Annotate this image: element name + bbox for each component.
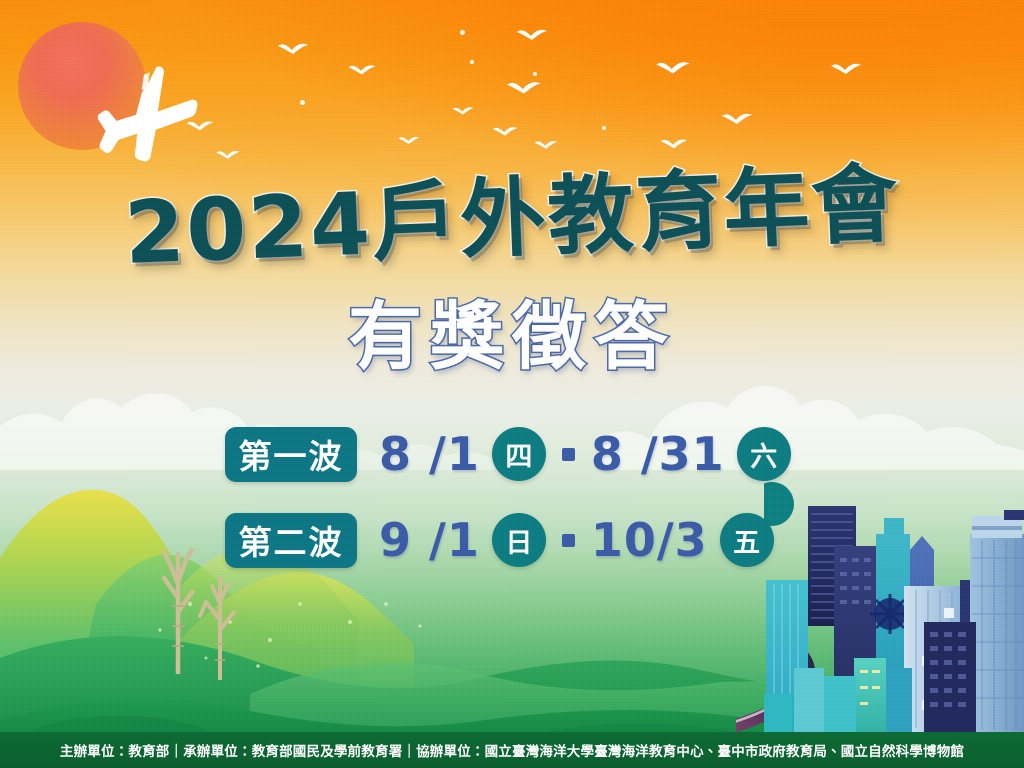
wave-row: 第一波 8 /1 四 8 /31 六 xyxy=(225,424,865,484)
wave-start-dow-badge: 日 xyxy=(492,513,546,567)
wave-end-dow-badge: 六 xyxy=(737,427,791,481)
page-subtitle: 有獎徵答 xyxy=(348,300,676,374)
wave-start-date: 9 /1 xyxy=(379,517,480,563)
wave-end-date: 8 /31 xyxy=(591,431,725,477)
date-range-separator xyxy=(562,534,575,547)
wave-end-date: 10/3 xyxy=(591,517,708,563)
wave-badge-second: 第二波 xyxy=(225,513,357,568)
wave-end-dow-badge: 五 xyxy=(720,513,774,567)
poster-canvas: 2024戶外教育年會 有獎徵答 第一波 8 /1 四 8 /31 六 第二波 9… xyxy=(0,0,1024,768)
sponsor-footer-bar: 主辦單位：教育部｜承辦單位：教育部國民及學前教育署｜協辦單位：國立臺灣海洋大學臺… xyxy=(0,732,1024,768)
poster-subtitle-container: 有獎徵答 xyxy=(0,300,1024,374)
airplane-icon xyxy=(83,52,224,175)
wave-badge-first: 第一波 xyxy=(225,427,357,482)
sponsor-footer-text: 主辦單位：教育部｜承辦單位：教育部國民及學前教育署｜協辦單位：國立臺灣海洋大學臺… xyxy=(60,740,964,760)
wave-row: 第二波 9 /1 日 10/3 五 xyxy=(225,510,865,570)
wave-start-date: 8 /1 xyxy=(379,431,480,477)
wave-schedule-list: 第一波 8 /1 四 8 /31 六 第二波 9 /1 日 10/3 五 xyxy=(225,424,865,596)
wave-start-dow-badge: 四 xyxy=(492,427,546,481)
date-range-separator xyxy=(562,448,575,461)
